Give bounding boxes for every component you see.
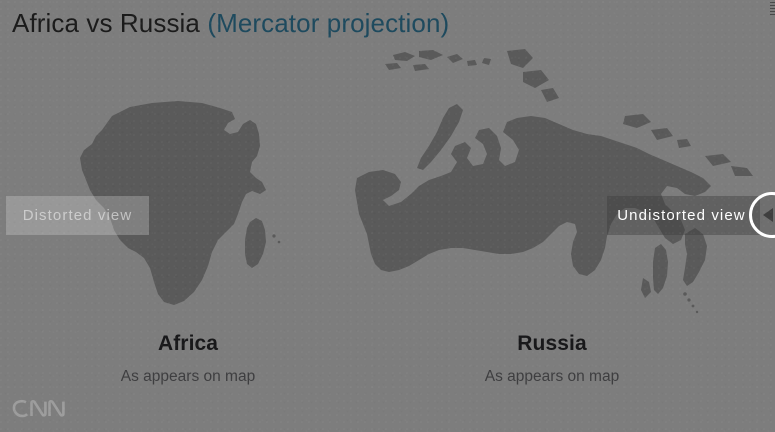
panel-subtitle-russia: As appears on map — [452, 367, 652, 387]
russia-map — [355, 48, 775, 320]
edge-artifact — [770, 2, 775, 16]
panel-subtitle-africa: As appears on map — [88, 367, 288, 387]
panel-caption-russia: Russia As appears on map — [452, 331, 652, 387]
chevron-left-glyph — [763, 208, 773, 222]
panel-title-russia: Russia — [452, 331, 652, 357]
cnn-logo — [11, 398, 67, 425]
page-title: Africa vs Russia (Mercator projection) — [12, 4, 449, 42]
panel-caption-africa: Africa As appears on map — [88, 331, 288, 387]
page-title-accent: (Mercator projection) — [207, 8, 449, 38]
panel-title-africa: Africa — [88, 331, 288, 357]
undistorted-view-button[interactable]: Undistorted view — [607, 196, 760, 235]
russia-silhouette-icon — [355, 48, 775, 320]
map-comparison-graphic: Africa vs Russia (Mercator projection) — [0, 0, 775, 432]
cnn-logo-icon — [11, 398, 67, 420]
distorted-view-button[interactable]: Distorted view — [6, 196, 149, 235]
page-title-main: Africa vs Russia — [12, 8, 207, 38]
